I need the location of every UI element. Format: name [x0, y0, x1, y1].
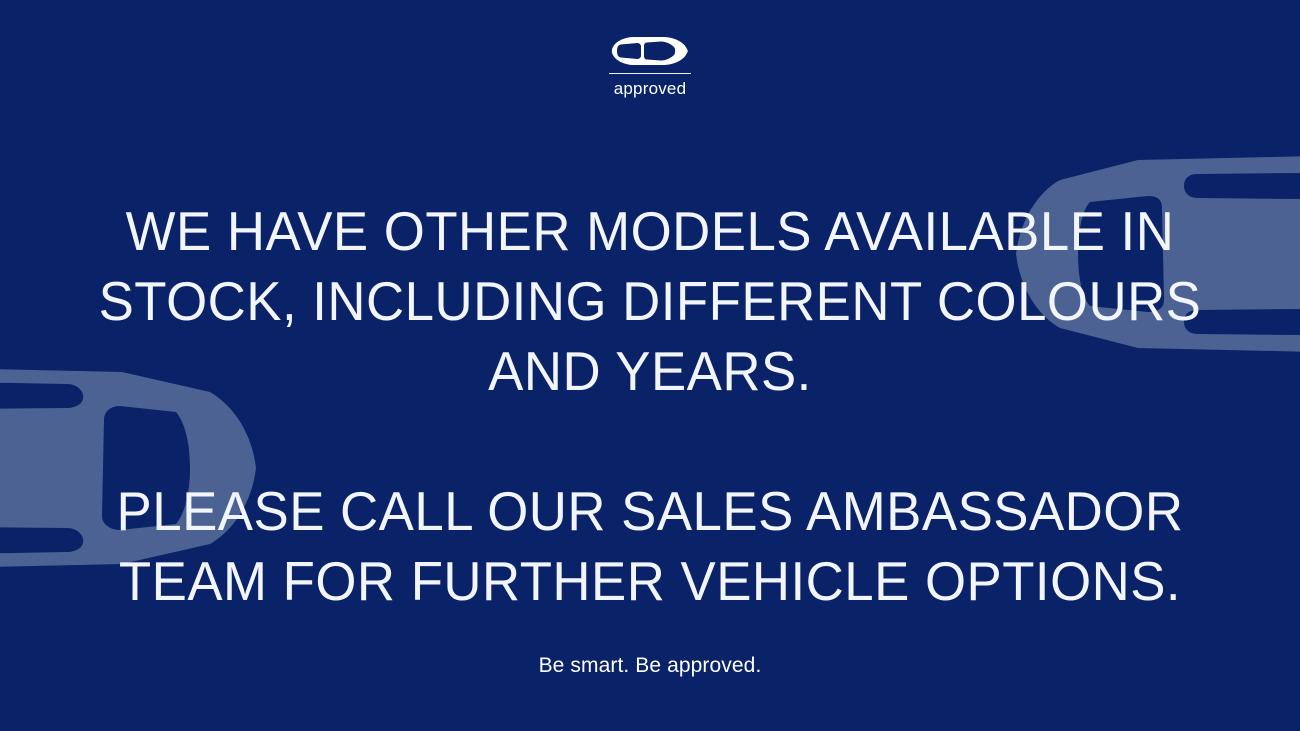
- brand-logo: approved: [0, 36, 1300, 97]
- page-title: WE HAVE OTHER MODELS AVAILABLE IN STOCK,…: [70, 196, 1230, 616]
- promo-slide: approved WE HAVE OTHER MODELS AVAILABLE …: [0, 0, 1300, 731]
- headline-paragraph-1: WE HAVE OTHER MODELS AVAILABLE IN STOCK,…: [93, 196, 1207, 406]
- headline-paragraph-2: PLEASE CALL OUR SALES AMBASSADOR TEAM FO…: [93, 476, 1207, 616]
- logo-divider: [609, 73, 691, 74]
- car-top-view-icon: [611, 36, 689, 66]
- tagline: Be smart. Be approved.: [0, 655, 1300, 676]
- logo-wordmark: approved: [614, 80, 687, 97]
